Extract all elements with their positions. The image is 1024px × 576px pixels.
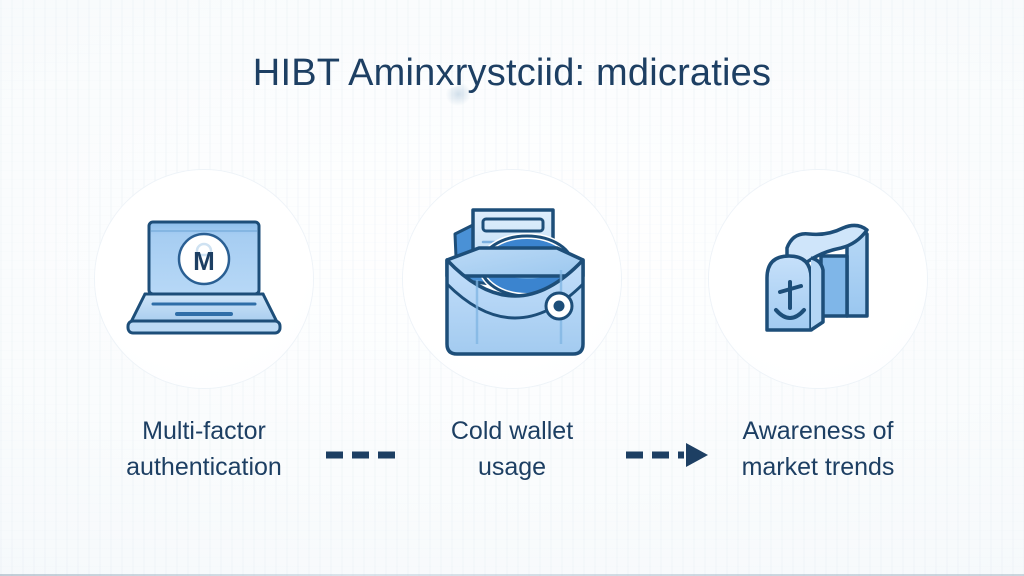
caption-line-1: Multi-factor [54,414,354,450]
badge-letter: M [193,246,215,276]
connector-dashed-line [324,438,420,472]
icon-circle-1: M [95,170,313,388]
caption-line-2: authentication [54,450,354,486]
market-trends-icon [743,204,893,354]
step-multi-factor-authentication: M Multi-factor authentication [54,170,354,485]
icon-circle-2 [403,170,621,388]
icon-circle-3 [709,170,927,388]
cold-wallet-icon [417,188,607,370]
page-title: HIBT Aminxrystciid: mdicraties [0,52,1024,95]
steps-row: M Multi-factor authentication [0,170,1024,510]
infographic-canvas: HIBT Aminxrystciid: mdicraties [0,0,1024,576]
laptop-mfa-icon: M [119,204,289,354]
step-caption-1: Multi-factor authentication [54,414,354,485]
connector-dashed-arrow [624,438,720,472]
